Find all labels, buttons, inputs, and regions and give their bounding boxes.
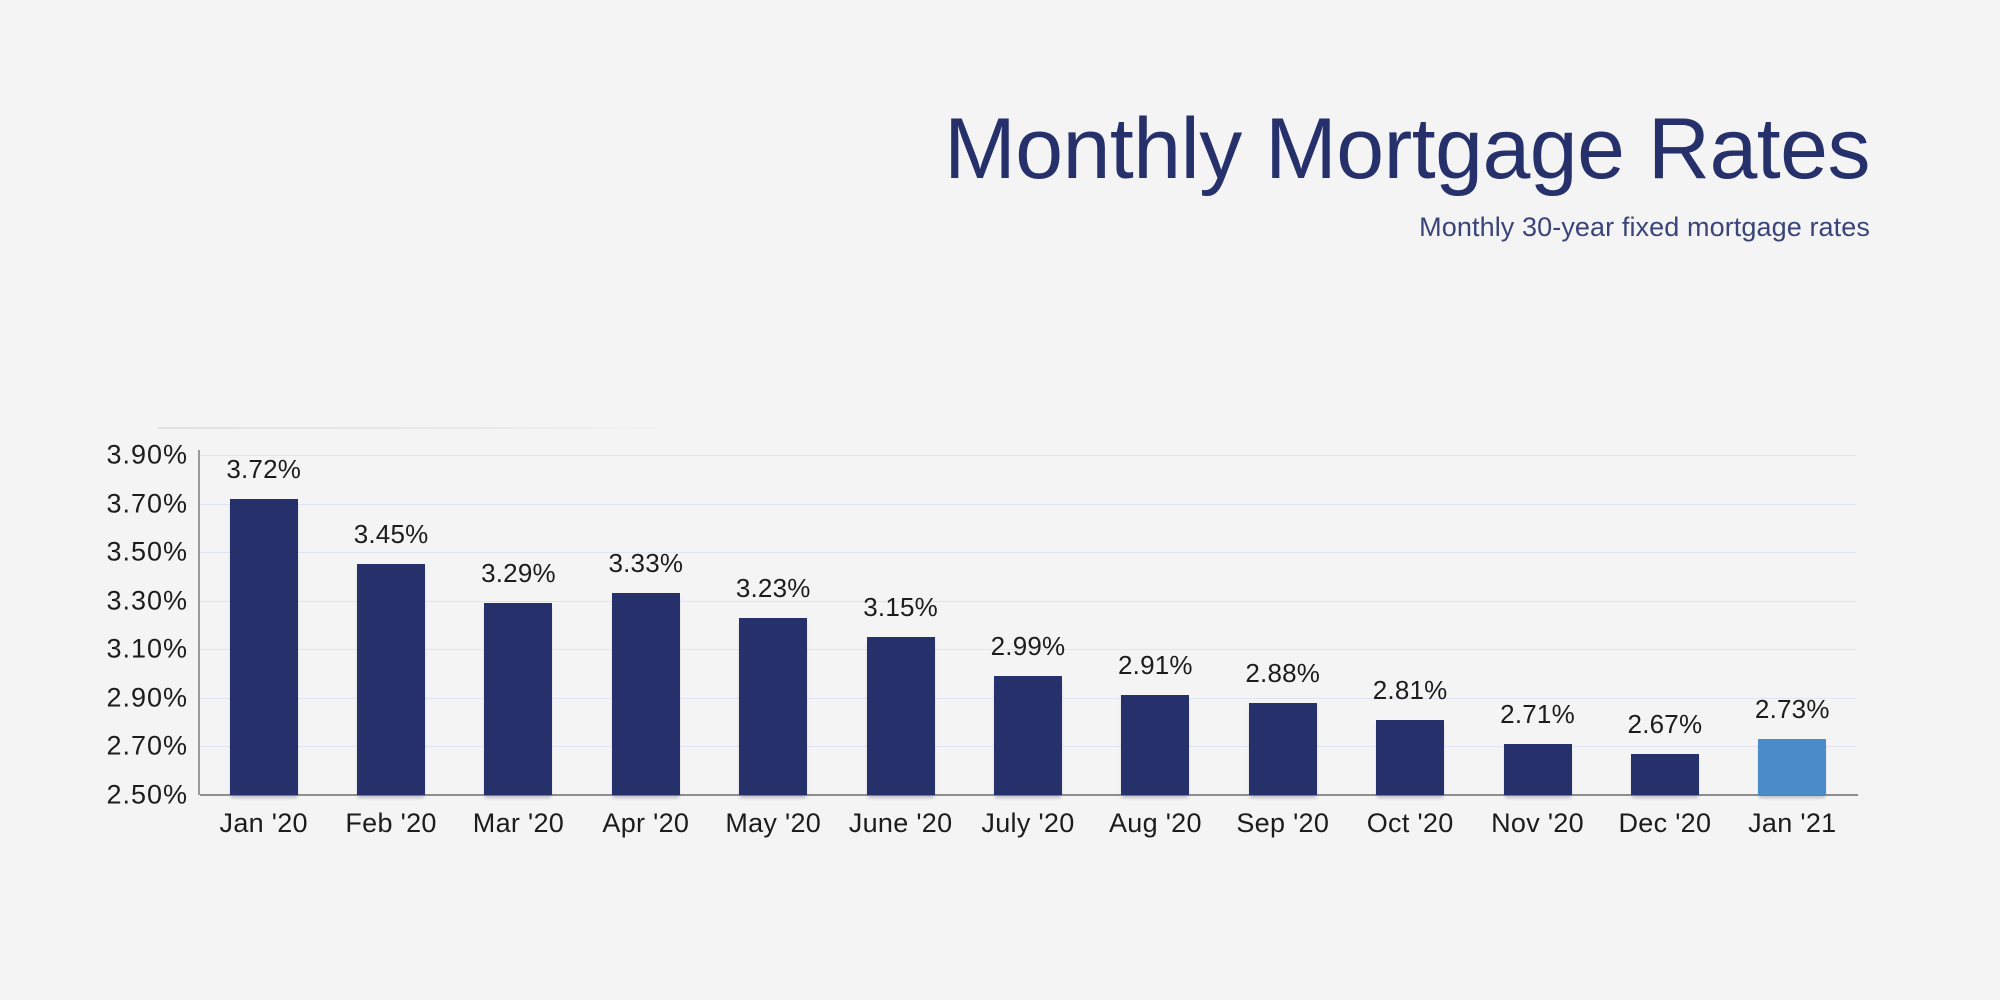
y-axis-tick-label: 3.90% bbox=[106, 440, 188, 471]
y-axis-tick-label: 3.50% bbox=[106, 537, 188, 568]
bar-slot: 3.23% bbox=[710, 455, 837, 795]
x-axis-tick-label: Nov '20 bbox=[1474, 808, 1601, 839]
bar-value-label: 2.99% bbox=[991, 631, 1066, 662]
y-axis-tick-label: 2.90% bbox=[106, 682, 188, 713]
bar-highlighted[interactable] bbox=[1758, 739, 1826, 795]
x-axis-tick-label: Sep '20 bbox=[1219, 808, 1346, 839]
y-axis-tick-label: 3.70% bbox=[106, 488, 188, 519]
x-axis-tick-label: Jan '20 bbox=[200, 808, 327, 839]
bar-slot: 3.29% bbox=[455, 455, 582, 795]
bar-value-label: 3.15% bbox=[863, 592, 938, 623]
bar[interactable] bbox=[867, 637, 935, 795]
bar-slot: 2.67% bbox=[1601, 455, 1728, 795]
bar[interactable] bbox=[1504, 744, 1572, 795]
x-axis-tick-labels: Jan '20Feb '20Mar '20Apr '20May '20June … bbox=[200, 808, 1856, 854]
x-axis-tick-label: Feb '20 bbox=[327, 808, 454, 839]
bar-slot: 3.33% bbox=[582, 455, 709, 795]
bar[interactable] bbox=[230, 499, 298, 795]
bar-value-label: 2.91% bbox=[1118, 650, 1193, 681]
bar[interactable] bbox=[484, 603, 552, 795]
x-axis-tick-label: June '20 bbox=[837, 808, 964, 839]
bar-slot: 2.91% bbox=[1092, 455, 1219, 795]
x-axis-tick-label: Dec '20 bbox=[1601, 808, 1728, 839]
bar[interactable] bbox=[1121, 695, 1189, 795]
bar-slot: 2.99% bbox=[964, 455, 1091, 795]
bar-value-label: 2.88% bbox=[1245, 658, 1320, 689]
bar-value-label: 2.81% bbox=[1373, 675, 1448, 706]
bar-slot: 2.88% bbox=[1219, 455, 1346, 795]
bar-value-label: 3.23% bbox=[736, 573, 811, 604]
bar-slot: 2.81% bbox=[1346, 455, 1473, 795]
bar-slot: 3.45% bbox=[327, 455, 454, 795]
bar-value-label: 3.45% bbox=[354, 519, 429, 550]
bar-chart: 3.90%3.70%3.50%3.30%3.10%2.90%2.70%2.50%… bbox=[0, 0, 2000, 1000]
x-axis-tick-label: Jan '21 bbox=[1729, 808, 1856, 839]
y-axis-tick-label: 3.10% bbox=[106, 634, 188, 665]
y-axis-tick-label: 2.50% bbox=[106, 780, 188, 811]
bar-value-label: 3.72% bbox=[226, 454, 301, 485]
bar-slot: 3.15% bbox=[837, 455, 964, 795]
bar-value-label: 2.71% bbox=[1500, 699, 1575, 730]
bar-slot: 2.73% bbox=[1729, 455, 1856, 795]
y-axis-tick-label: 3.30% bbox=[106, 585, 188, 616]
x-axis-tick-label: Oct '20 bbox=[1346, 808, 1473, 839]
bar[interactable] bbox=[994, 676, 1062, 795]
y-axis-tick-label: 2.70% bbox=[106, 731, 188, 762]
bar-value-label: 2.67% bbox=[1628, 709, 1703, 740]
x-axis-tick-label: May '20 bbox=[710, 808, 837, 839]
bar-value-label: 3.33% bbox=[608, 548, 683, 579]
bar-value-label: 3.29% bbox=[481, 558, 556, 589]
bar[interactable] bbox=[357, 564, 425, 795]
bar-slot: 3.72% bbox=[200, 455, 327, 795]
bar[interactable] bbox=[1376, 720, 1444, 795]
bar-value-label: 2.73% bbox=[1755, 694, 1830, 725]
x-axis-tick-label: Aug '20 bbox=[1092, 808, 1219, 839]
bar[interactable] bbox=[612, 593, 680, 795]
bar[interactable] bbox=[1631, 754, 1699, 795]
bar-slot: 2.71% bbox=[1474, 455, 1601, 795]
bar[interactable] bbox=[1249, 703, 1317, 795]
x-axis-tick-label: Mar '20 bbox=[455, 808, 582, 839]
x-axis-tick-label: Apr '20 bbox=[582, 808, 709, 839]
bar[interactable] bbox=[739, 618, 807, 795]
x-axis-tick-label: July '20 bbox=[964, 808, 1091, 839]
bar-series: 3.72%3.45%3.29%3.33%3.23%3.15%2.99%2.91%… bbox=[200, 455, 1856, 795]
